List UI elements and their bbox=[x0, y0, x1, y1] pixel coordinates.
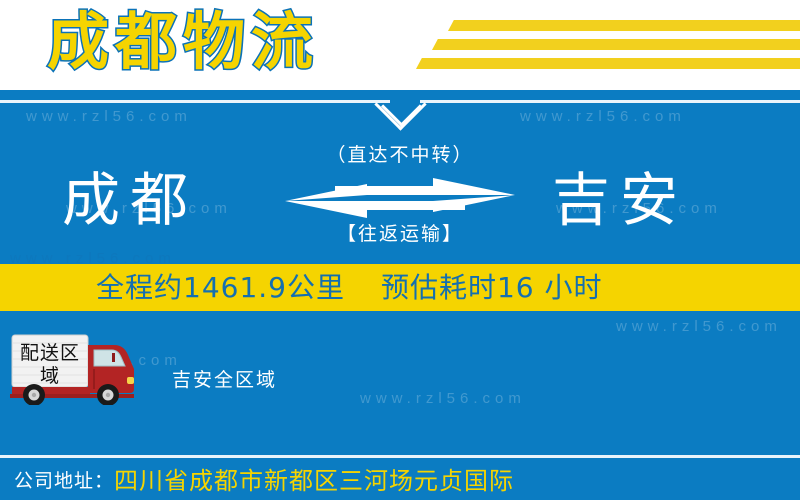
delivery-truck-icon bbox=[8, 333, 148, 405]
decor-stripe-3 bbox=[416, 58, 800, 69]
header-divider-right bbox=[420, 100, 800, 103]
origin-city: 成都 bbox=[62, 168, 198, 232]
watermark: www.rzl56.com bbox=[520, 108, 686, 126]
address-label: 公司地址： bbox=[14, 469, 114, 493]
bidirectional-arrow-icon bbox=[285, 178, 515, 220]
destination-city: 吉安 bbox=[552, 168, 688, 232]
decor-stripe-1 bbox=[448, 20, 800, 31]
info-band: 全程约1461.9公里 预估耗时16 小时 bbox=[0, 264, 800, 311]
page-title: 成都物流 bbox=[47, 6, 319, 78]
watermark: www.rzl56.com bbox=[360, 390, 526, 408]
watermark: www.rzl56.com bbox=[616, 318, 782, 336]
address-value: 四川省成都市新都区三河场元贞国际 bbox=[114, 467, 514, 495]
header-divider-left bbox=[0, 100, 390, 103]
decor-stripe-2 bbox=[432, 39, 800, 50]
address-bar: 公司地址： 四川省成都市新都区三河场元贞国际 bbox=[0, 462, 800, 500]
logistics-banner: 成都物流 www.rzl56.com www.rzl56.com www.rzl… bbox=[0, 0, 800, 500]
coverage-area-text: 吉安全区域 bbox=[172, 368, 277, 392]
header-strip: 成都物流 bbox=[0, 0, 800, 90]
roundtrip-service-label: 【往返运输】 bbox=[292, 222, 508, 246]
footer-divider bbox=[0, 455, 800, 458]
total-distance: 全程约1461.9公里 bbox=[96, 271, 345, 305]
estimated-duration: 预估耗时16 小时 bbox=[381, 271, 603, 305]
watermark: www.rzl56.com bbox=[26, 108, 192, 126]
direct-service-label: （直达不中转） bbox=[292, 143, 508, 167]
